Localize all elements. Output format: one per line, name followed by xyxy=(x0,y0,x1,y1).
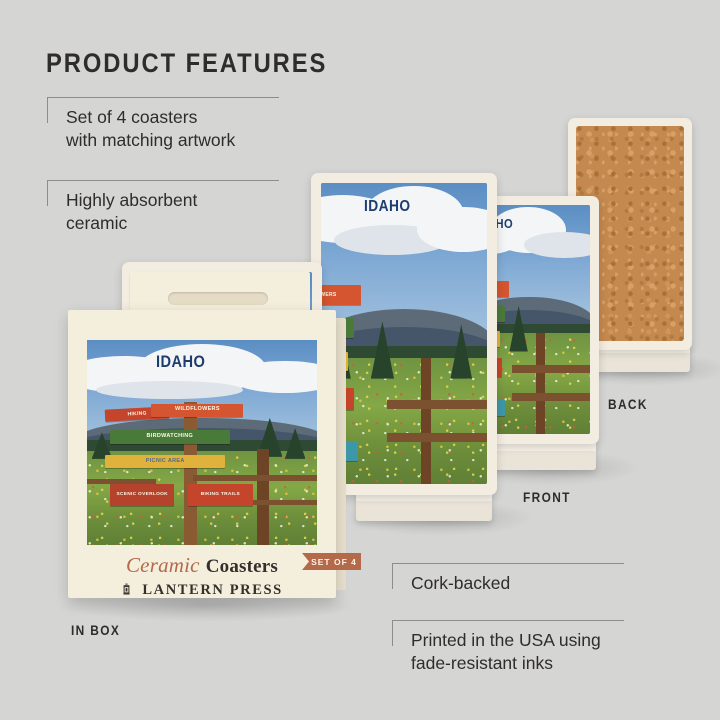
feature-tick xyxy=(47,180,48,206)
feature-tick xyxy=(392,620,393,646)
feature-tick xyxy=(392,563,393,589)
feature-divider xyxy=(392,620,624,621)
sign-wildflowers: WILDFLOWERS xyxy=(321,285,361,305)
box-window-artwork: HIKING WILDFLOWERS BIRDWATCHING PICNIC A… xyxy=(87,340,317,545)
set-of-4-badge: SET OF 4 xyxy=(302,553,361,570)
feature-text: Set of 4 coasters with matching artwork xyxy=(66,106,235,152)
artwork-state-name: IDAHO xyxy=(364,198,410,216)
feature-item-printed-usa: Printed in the USA using fade-resistant … xyxy=(392,620,624,682)
feature-tick xyxy=(47,97,48,123)
product-feature-sheet: PRODUCT FEATURES Set of 4 coasters with … xyxy=(0,0,720,720)
box-hanger-slot xyxy=(168,292,268,305)
box-branding: Ceramic Coasters LANTERN PRESS xyxy=(68,553,336,601)
feature-divider xyxy=(47,97,279,98)
brand-title-line: Ceramic Coasters xyxy=(68,553,336,578)
feature-text: Highly absorbent ceramic xyxy=(66,189,197,235)
sign-scenic-overlook: SCENIC OVERLOOK xyxy=(110,484,174,507)
page-title: PRODUCT FEATURES xyxy=(46,48,327,79)
publisher-name: LANTERN PRESS xyxy=(142,582,282,598)
feature-divider xyxy=(47,180,279,181)
box-hanger-tab xyxy=(130,272,310,314)
sign-picnic-area: PICNIC AREA xyxy=(105,455,225,468)
publisher-line: LANTERN PRESS xyxy=(68,582,336,601)
view-label-back: BACK xyxy=(608,396,648,412)
feature-item-cork-backed: Cork-backed xyxy=(392,563,624,603)
feature-text: Cork-backed xyxy=(411,572,510,595)
view-label-in-box: IN BOX xyxy=(71,622,120,638)
sign-biking-trails: BIKING TRAILS xyxy=(188,484,252,507)
feature-item-set-of-4: Set of 4 coasters with matching artwork xyxy=(47,97,279,159)
brand-word-ceramic: Ceramic xyxy=(126,553,200,577)
feature-divider xyxy=(392,563,624,564)
box-front-panel: HIKING WILDFLOWERS BIRDWATCHING PICNIC A… xyxy=(68,310,336,598)
lantern-icon xyxy=(121,583,132,601)
sign-wildflowers: WILDFLOWERS xyxy=(151,404,243,417)
artwork-state-name: IDAHO xyxy=(156,352,205,372)
feature-text: Printed in the USA using fade-resistant … xyxy=(411,629,601,675)
sign-birdwatching: BIRDWATCHING xyxy=(110,430,230,443)
brand-word-coasters: Coasters xyxy=(206,556,278,577)
feature-item-absorbent: Highly absorbent ceramic xyxy=(47,180,279,242)
view-label-front: FRONT xyxy=(523,489,571,505)
